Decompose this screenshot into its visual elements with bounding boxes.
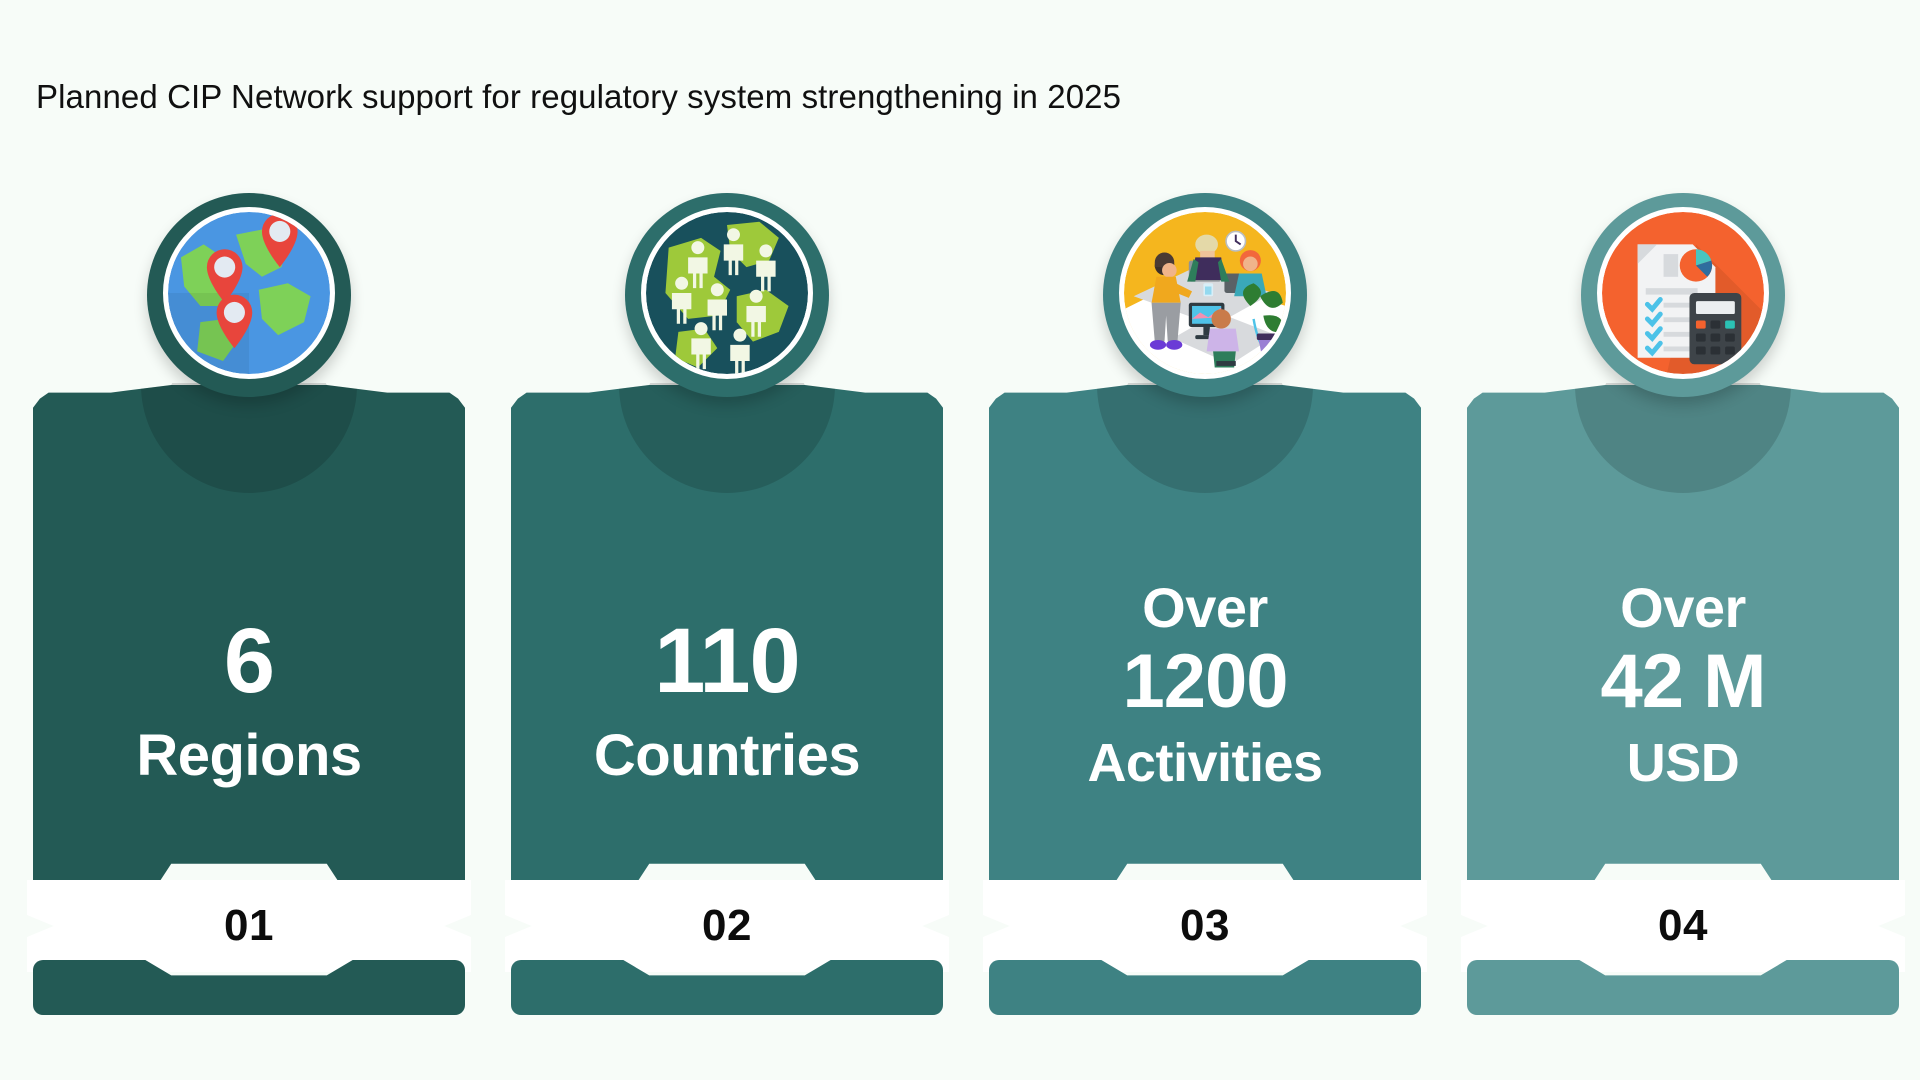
- step-ribbon: 02: [505, 880, 949, 972]
- stat-cards-row: 6 Regions 01: [0, 225, 1920, 1025]
- stat-card-usd[interactable]: Over 42 M USD 04: [1467, 225, 1899, 1025]
- step-number: 02: [702, 904, 752, 948]
- card-icon: [1581, 193, 1785, 397]
- stat-card-regions[interactable]: 6 Regions 01: [33, 225, 465, 1025]
- stat-card-countries[interactable]: 110 Countries 02: [511, 225, 943, 1025]
- card-icon: [147, 193, 351, 397]
- card-icon: [1103, 193, 1307, 397]
- office-workspace-team-icon: [1119, 207, 1291, 379]
- step-number: 03: [1180, 904, 1230, 948]
- step-number: 01: [224, 904, 274, 948]
- card-icon: [625, 193, 829, 397]
- step-number: 04: [1658, 904, 1708, 948]
- step-ribbon: 03: [983, 880, 1427, 972]
- step-ribbon: 04: [1461, 880, 1905, 972]
- globe-with-map-pins-icon: [163, 207, 335, 379]
- step-ribbon: 01: [27, 880, 471, 972]
- page-title: Planned CIP Network support for regulato…: [36, 78, 1121, 116]
- stat-card-activities[interactable]: Over 1200 Activities 03: [989, 225, 1421, 1025]
- budget-report-calculator-icon: [1597, 207, 1769, 379]
- globe-with-people-icon: [641, 207, 813, 379]
